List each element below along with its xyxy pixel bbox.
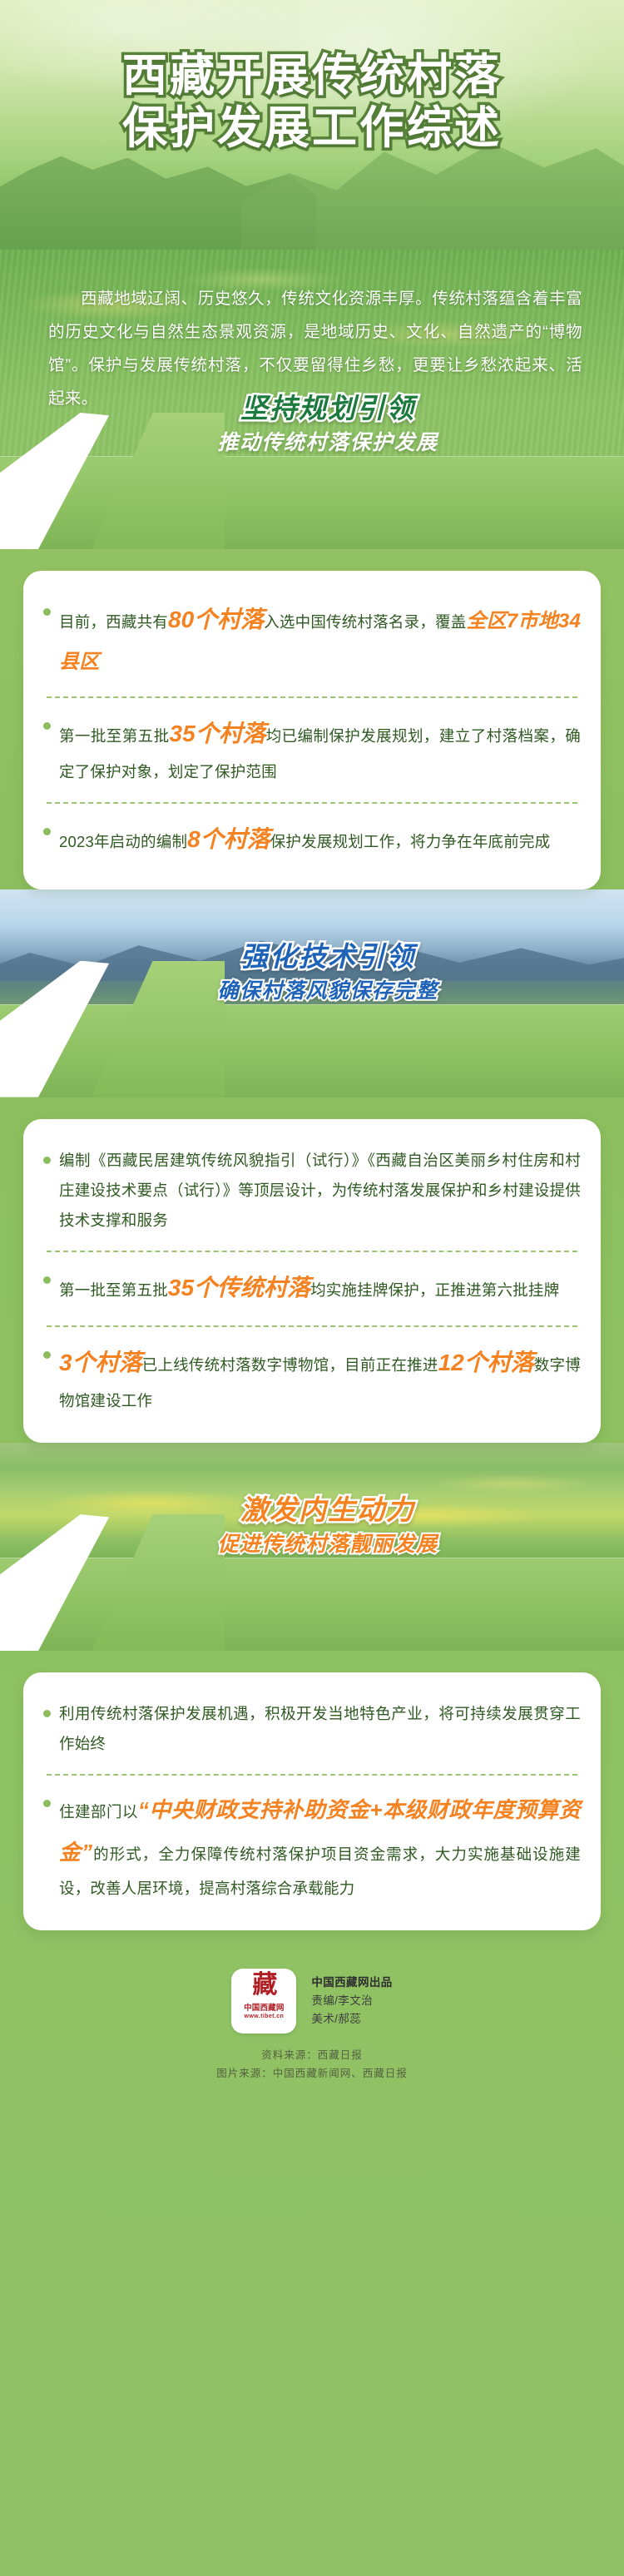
text-run: 目前，西藏共有 (59, 613, 168, 631)
section-1-banner: 坚持规划引领 推动传统村落保护发展 (0, 456, 624, 549)
bullet-dot-icon (43, 1276, 51, 1284)
text-run: 利用传统村落保护发展机遇，积极开发当地特色产业，将可持续发展贯穿工作始终 (59, 1705, 581, 1752)
text-run: 已上线传统村落数字博物馆，目前正在推进 (142, 1356, 438, 1374)
text-run: 均实施挂牌保护，正推进第六批挂牌 (310, 1281, 559, 1299)
bullet-dot-icon (43, 1351, 51, 1359)
section-2: 强化技术引领 确保村落风貌保存完整 编制《西藏民居建筑传统风貌指引（试行）》《西… (0, 889, 624, 1443)
bullet-dot-icon (43, 1710, 51, 1717)
credit-art: 美术/郝蕊 (311, 2010, 392, 2029)
credits: 中国西藏网出品 责编/李文治 美术/郝蕊 (311, 1974, 392, 2029)
section-3-title: 激发内生动力 (32, 1493, 624, 1527)
credit-editor: 责编/李文治 (311, 1992, 392, 2010)
bullet-dot-icon (43, 828, 51, 835)
text-run: 保护发展规划工作，将力争在年底前完成 (270, 833, 551, 850)
list-item: 第一批至第五批35个村落均已编制保护发展规划，建立了村落档案，确定了保护对象，划… (43, 706, 581, 792)
footer-main-row: 藏 中国西藏网 www.tibet.cn 中国西藏网出品 责编/李文治 美术/郝… (0, 1969, 624, 2034)
logo-name: 中国西藏网 (244, 2001, 285, 2013)
highlight-run: 3个村落 (59, 1350, 142, 1375)
bullet-text: 住建部门以“中央财政支持补助资金+本级财政年度预算资金”的形式，全力保障传统村落… (59, 1789, 581, 1903)
bullet-text: 第一批至第五批35个传统村落均实施挂牌保护，正推进第六批挂牌 (59, 1266, 581, 1311)
text-run: 2023年启动的编制 (59, 833, 187, 850)
highlight-run: 35个村落 (170, 721, 266, 746)
title-line-2: 保护发展工作综述 (0, 102, 624, 155)
text-run: 入选中国传统村落名录，覆盖 (264, 613, 466, 631)
list-item: 第一批至第五批35个传统村落均实施挂牌保护，正推进第六批挂牌 (43, 1261, 581, 1316)
bullet-text: 利用传统村落保护发展机遇，积极开发当地特色产业，将可持续发展贯穿工作始终 (59, 1699, 581, 1759)
list-item: 编制《西藏民居建筑传统风貌指引（试行）》《西藏自治区美丽乡村住房和村庄建设技术要… (43, 1141, 581, 1241)
tibet-net-logo: 藏 中国西藏网 www.tibet.cn (231, 1969, 296, 2034)
text-run: 第一批至第五批 (59, 1281, 168, 1299)
bullet-text: 3个村落已上线传统村落数字博物馆，目前正在推进12个村落数字博物馆建设工作 (59, 1340, 581, 1416)
footer: 藏 中国西藏网 www.tibet.cn 中国西藏网出品 责编/李文治 美术/郝… (0, 1969, 624, 2102)
text-run: 的形式，全力保障传统村落保护项目资金需求，大力实施基础设施建设，改善人居环境，提… (59, 1845, 581, 1897)
bullet-text: 2023年启动的编制8个村落保护发展规划工作，将力争在年底前完成 (59, 817, 581, 863)
source-text: 资料来源：西藏日报 (0, 2047, 624, 2065)
bullet-dot-icon (43, 608, 51, 616)
logo-url: www.tibet.cn (244, 2014, 284, 2019)
logo-seal-icon: 藏 (252, 1973, 275, 1998)
bullet-divider (47, 1251, 577, 1252)
text-run: 第一批至第五批 (59, 727, 170, 745)
bullet-divider (47, 802, 577, 804)
bullet-text: 第一批至第五批35个村落均已编制保护发展规划，建立了村落档案，确定了保护对象，划… (59, 711, 581, 787)
section-1-card: 目前，西藏共有80个村落入选中国传统村落名录，覆盖全区7市地34县区第一批至第五… (23, 571, 601, 889)
section-3-card: 利用传统村落保护发展机遇，积极开发当地特色产业，将可持续发展贯穿工作始终住建部门… (23, 1672, 601, 1930)
title-line-1: 西藏开展传统村落 (0, 50, 624, 102)
credit-producer: 中国西藏网出品 (311, 1974, 392, 1992)
section-3-banner: 激发内生动力 促进传统村落靓丽发展 (0, 1558, 624, 1651)
image-source: 图片来源：中国西藏新闻网、西藏日报 (0, 2065, 624, 2083)
highlight-run: 35个传统村落 (168, 1275, 310, 1300)
bullet-dot-icon (43, 722, 51, 730)
bullet-divider (47, 1774, 577, 1776)
text-run: 住建部门以 (59, 1803, 138, 1821)
section-2-heading: 强化技术引领 确保村落风貌保存完整 (0, 939, 624, 1006)
highlight-run: 80个村落 (168, 607, 264, 632)
highlight-run: 12个村落 (438, 1350, 534, 1375)
text-run: 编制《西藏民居建筑传统风貌指引（试行）》《西藏自治区美丽乡村住房和村庄建设技术要… (59, 1152, 581, 1229)
bullet-text: 编制《西藏民居建筑传统风貌指引（试行）》《西藏自治区美丽乡村住房和村庄建设技术要… (59, 1146, 581, 1236)
highlight-run: 8个村落 (187, 826, 270, 852)
section-3: 激发内生动力 促进传统村落靓丽发展 利用传统村落保护发展机遇，积极开发当地特色产… (0, 1443, 624, 1930)
list-item: 住建部门以“中央财政支持补助资金+本级财政年度预算资金”的形式，全力保障传统村落… (43, 1784, 581, 1908)
section-3-subtitle: 促进传统村落靓丽发展 (32, 1530, 624, 1559)
section-1-subtitle: 推动传统村落保护发展 (32, 429, 624, 458)
bullet-divider (47, 1325, 577, 1327)
bullet-dot-icon (43, 1157, 51, 1164)
section-2-card: 编制《西藏民居建筑传统风貌指引（试行）》《西藏自治区美丽乡村住房和村庄建设技术要… (23, 1119, 601, 1443)
section-2-banner: 强化技术引领 确保村落风貌保存完整 (0, 1004, 624, 1097)
bullet-dot-icon (43, 1800, 51, 1807)
page-title: 西藏开展传统村落 保护发展工作综述 (0, 50, 624, 154)
section-2-subtitle: 确保村落风貌保存完整 (32, 977, 624, 1006)
sources: 资料来源：西藏日报 图片来源：中国西藏新闻网、西藏日报 (0, 2047, 624, 2083)
bullet-text: 目前，西藏共有80个村落入选中国传统村落名录，覆盖全区7市地34县区 (59, 597, 581, 681)
list-item: 利用传统村落保护发展机遇，积极开发当地特色产业，将可持续发展贯穿工作始终 (43, 1694, 581, 1764)
bullet-divider (47, 696, 577, 698)
intro-paragraph: 西藏地域辽阔、历史悠久，传统文化资源丰厚。传统村落蕴含着丰富的历史文化与自然生态… (48, 283, 582, 416)
section-1: 坚持规划引领 推动传统村落保护发展 目前，西藏共有80个村落入选中国传统村落名录… (0, 456, 624, 889)
section-3-heading: 激发内生动力 促进传统村落靓丽发展 (0, 1493, 624, 1559)
list-item: 2023年启动的编制8个村落保护发展规划工作，将力争在年底前完成 (43, 812, 581, 868)
list-item: 目前，西藏共有80个村落入选中国传统村落名录，覆盖全区7市地34县区 (43, 592, 581, 686)
section-2-title: 强化技术引领 (32, 939, 624, 973)
infographic-page: 西藏开展传统村落 保护发展工作综述 西藏地域辽阔、历史悠久，传统文化资源丰厚。传… (0, 0, 624, 2576)
list-item: 3个村落已上线传统村落数字博物馆，目前正在推进12个村落数字博物馆建设工作 (43, 1335, 581, 1421)
